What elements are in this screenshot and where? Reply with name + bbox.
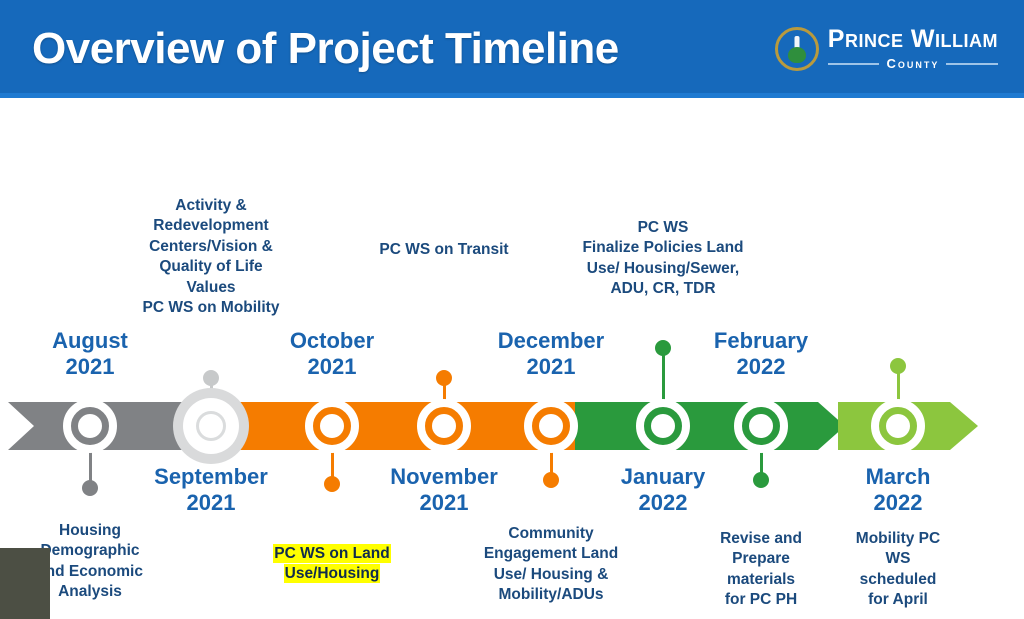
- month-label-december: December 2021: [461, 328, 641, 381]
- milestone-ring-core-august: [71, 407, 109, 445]
- milestone-ring-core-december: [532, 407, 570, 445]
- milestone-note-january: PC WS Finalize Policies Land Use/ Housin…: [548, 218, 778, 300]
- logo-sub-line: County: [879, 56, 946, 71]
- logo-wordmark: Prince William County: [828, 27, 998, 71]
- logo-rule-right: [946, 63, 998, 65]
- timeline-segment-green: [575, 402, 845, 450]
- milestone-dot-august: [82, 480, 98, 496]
- logo-sub-line-row: County: [828, 56, 998, 71]
- logo-rule-left: [828, 63, 880, 65]
- milestone-ring-core-january: [644, 407, 682, 445]
- logo-name-line: Prince William: [828, 27, 998, 52]
- milestone-dot-september: [203, 370, 219, 386]
- note-highlight: Use/Housing: [285, 565, 380, 582]
- milestone-dot-november: [436, 370, 452, 386]
- milestone-ring-core-march: [879, 407, 917, 445]
- milestone-dot-october: [324, 476, 340, 492]
- prince-william-county-logo: Prince William County: [775, 27, 998, 71]
- county-seal-icon: [775, 27, 819, 71]
- slide: Overview of Project Timeline Prince Will…: [0, 0, 1024, 619]
- page-title: Overview of Project Timeline: [32, 24, 619, 74]
- month-label-november: November 2021: [354, 464, 534, 517]
- occlusion-rectangle: [0, 548, 50, 619]
- milestone-note-september: Activity & Redevelopment Centers/Vision …: [96, 196, 326, 319]
- month-label-october: October 2021: [252, 328, 412, 381]
- month-label-january: January 2022: [578, 464, 748, 517]
- milestone-dot-march: [890, 358, 906, 374]
- milestone-ring-core-february: [742, 407, 780, 445]
- milestone-note-november: PC WS on Transit: [344, 240, 544, 260]
- milestone-dot-december: [543, 472, 559, 488]
- milestone-note-october: PC WS on LandUse/Housing: [242, 544, 422, 585]
- milestone-ring-core-september: [196, 411, 226, 441]
- slide-header: Overview of Project Timeline Prince Will…: [0, 0, 1024, 98]
- milestone-note-march: Mobility PC WS scheduled for April: [808, 529, 988, 611]
- month-label-august: August 2021: [15, 328, 165, 381]
- milestone-dot-january: [655, 340, 671, 356]
- milestone-ring-core-november: [425, 407, 463, 445]
- month-label-february: February 2022: [676, 328, 846, 381]
- milestone-note-december: Community Engagement Land Use/ Housing &…: [451, 524, 651, 606]
- header-accent-bar: [0, 93, 1024, 98]
- note-highlight: PC WS on Land: [274, 545, 389, 562]
- milestone-ring-core-october: [313, 407, 351, 445]
- month-label-march: March 2022: [813, 464, 983, 517]
- month-label-september: September 2021: [111, 464, 311, 517]
- milestone-dot-february: [753, 472, 769, 488]
